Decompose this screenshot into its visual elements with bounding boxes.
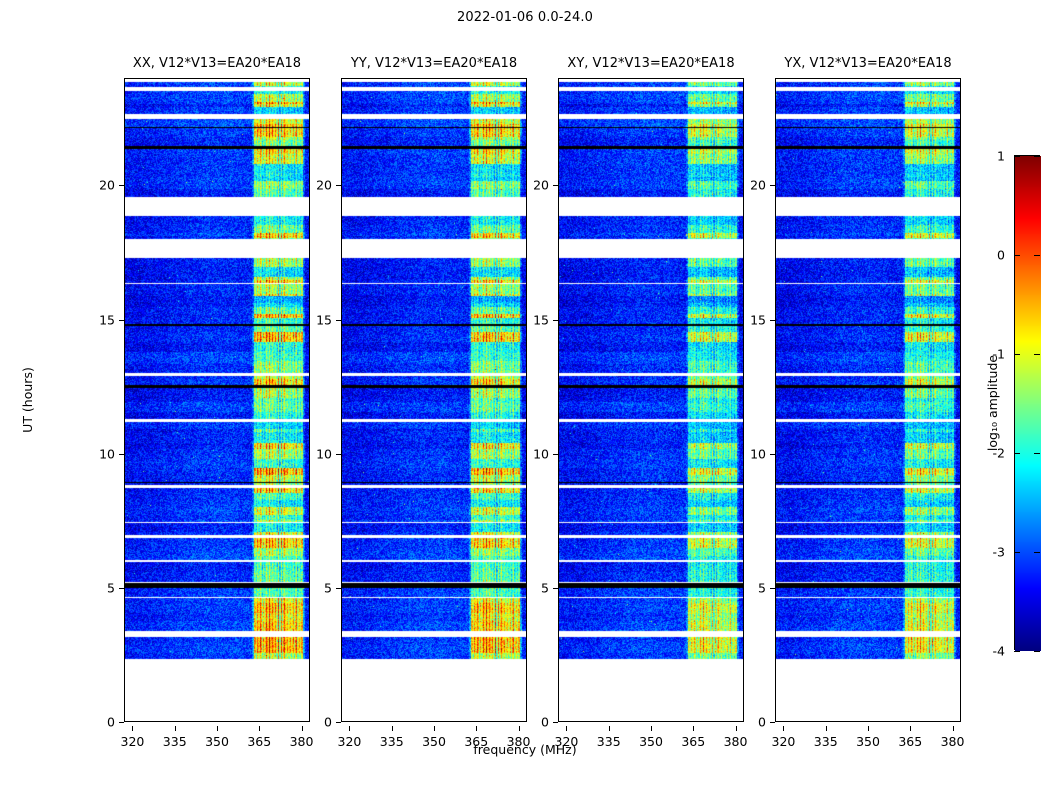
y-tick-label: 10	[99, 446, 115, 461]
colorbar-tick-label: -4	[993, 644, 1005, 659]
colorbar-tick-label: 0	[997, 248, 1005, 263]
x-tick	[302, 726, 303, 731]
y-tick	[336, 320, 341, 321]
y-tick-label: 20	[316, 178, 332, 193]
colorbar-tick	[1014, 255, 1020, 256]
colorbar-label: log₁₀ amplitude	[985, 354, 1000, 450]
y-tick-label: 10	[316, 446, 332, 461]
y-tick	[119, 185, 124, 186]
panel-yx[interactable]: YX, V12*V13=EA20*EA18 320335350365380051…	[775, 78, 961, 722]
colorbar-tick-label: -3	[993, 545, 1005, 560]
figure-canvas: 2022-01-06 0.0-24.0 XX, V12*V13=EA20*EA1…	[0, 0, 1050, 800]
y-tick	[770, 185, 775, 186]
y-tick	[119, 588, 124, 589]
x-tick	[910, 726, 911, 731]
y-tick-label: 10	[750, 446, 766, 461]
panel-title-xx: XX, V12*V13=EA20*EA18	[133, 56, 301, 71]
heatmap-axes-yy[interactable]	[341, 78, 527, 722]
y-tick	[119, 454, 124, 455]
x-tick	[693, 726, 694, 731]
y-tick	[553, 320, 558, 321]
y-tick	[119, 320, 124, 321]
colorbar-tick	[1014, 552, 1020, 553]
heatmap-axes-xx[interactable]	[124, 78, 310, 722]
colorbar-tick	[1014, 453, 1020, 454]
colorbar-tick-label: 1	[997, 149, 1005, 164]
y-tick	[770, 588, 775, 589]
y-tick	[553, 722, 558, 723]
colorbar-tick	[1034, 552, 1040, 553]
y-tick	[336, 588, 341, 589]
x-tick	[476, 726, 477, 731]
panel-yy[interactable]: YY, V12*V13=EA20*EA18 320335350365380051…	[341, 78, 527, 722]
colorbar-tick	[1034, 651, 1040, 652]
x-axis-label: frequency (MHz)	[0, 742, 1050, 757]
panel-title-xy: XY, V12*V13=EA20*EA18	[567, 56, 734, 71]
y-tick-label: 10	[533, 446, 549, 461]
panel-xx[interactable]: XX, V12*V13=EA20*EA18 320335350365380051…	[124, 78, 310, 722]
x-tick	[217, 726, 218, 731]
x-tick	[783, 726, 784, 731]
y-tick-label: 5	[541, 580, 549, 595]
panel-xy[interactable]: XY, V12*V13=EA20*EA18 320335350365380051…	[558, 78, 744, 722]
y-tick-label: 15	[316, 312, 332, 327]
y-tick-label: 5	[758, 580, 766, 595]
y-tick	[336, 722, 341, 723]
panel-title-yx: YX, V12*V13=EA20*EA18	[784, 56, 951, 71]
y-tick-label: 20	[533, 178, 549, 193]
colorbar-tick	[1034, 354, 1040, 355]
x-tick	[953, 726, 954, 731]
y-tick	[553, 185, 558, 186]
figure-suptitle: 2022-01-06 0.0-24.0	[0, 10, 1050, 25]
y-tick	[119, 722, 124, 723]
x-tick	[651, 726, 652, 731]
y-tick-label: 20	[750, 178, 766, 193]
x-tick	[392, 726, 393, 731]
x-tick	[736, 726, 737, 731]
x-tick	[826, 726, 827, 731]
y-tick	[336, 454, 341, 455]
y-tick-label: 5	[324, 580, 332, 595]
x-tick	[609, 726, 610, 731]
x-tick	[349, 726, 350, 731]
x-tick	[132, 726, 133, 731]
heatmap-axes-xy[interactable]	[558, 78, 744, 722]
colorbar-tick	[1014, 354, 1020, 355]
x-tick	[519, 726, 520, 731]
y-tick-label: 0	[541, 715, 549, 730]
y-tick	[336, 185, 341, 186]
y-axis-label: UT (hours)	[20, 367, 35, 433]
colorbar[interactable]: -4-3-2-101	[1014, 155, 1040, 650]
colorbar-tick	[1034, 255, 1040, 256]
y-tick	[770, 722, 775, 723]
y-tick-label: 5	[107, 580, 115, 595]
heatmap-axes-yx[interactable]	[775, 78, 961, 722]
y-tick	[770, 454, 775, 455]
colorbar-tick	[1014, 651, 1020, 652]
colorbar-tick	[1034, 156, 1040, 157]
x-tick	[259, 726, 260, 731]
panel-title-yy: YY, V12*V13=EA20*EA18	[351, 56, 517, 71]
y-tick	[553, 454, 558, 455]
y-tick-label: 15	[99, 312, 115, 327]
y-tick-label: 15	[750, 312, 766, 327]
y-tick-label: 20	[99, 178, 115, 193]
colorbar-tick	[1014, 156, 1020, 157]
colorbar-tick	[1034, 453, 1040, 454]
y-tick-label: 15	[533, 312, 549, 327]
y-tick-label: 0	[107, 715, 115, 730]
x-tick	[566, 726, 567, 731]
y-tick	[553, 588, 558, 589]
y-tick	[770, 320, 775, 321]
x-tick	[434, 726, 435, 731]
x-tick	[868, 726, 869, 731]
x-tick	[175, 726, 176, 731]
y-tick-label: 0	[758, 715, 766, 730]
y-tick-label: 0	[324, 715, 332, 730]
